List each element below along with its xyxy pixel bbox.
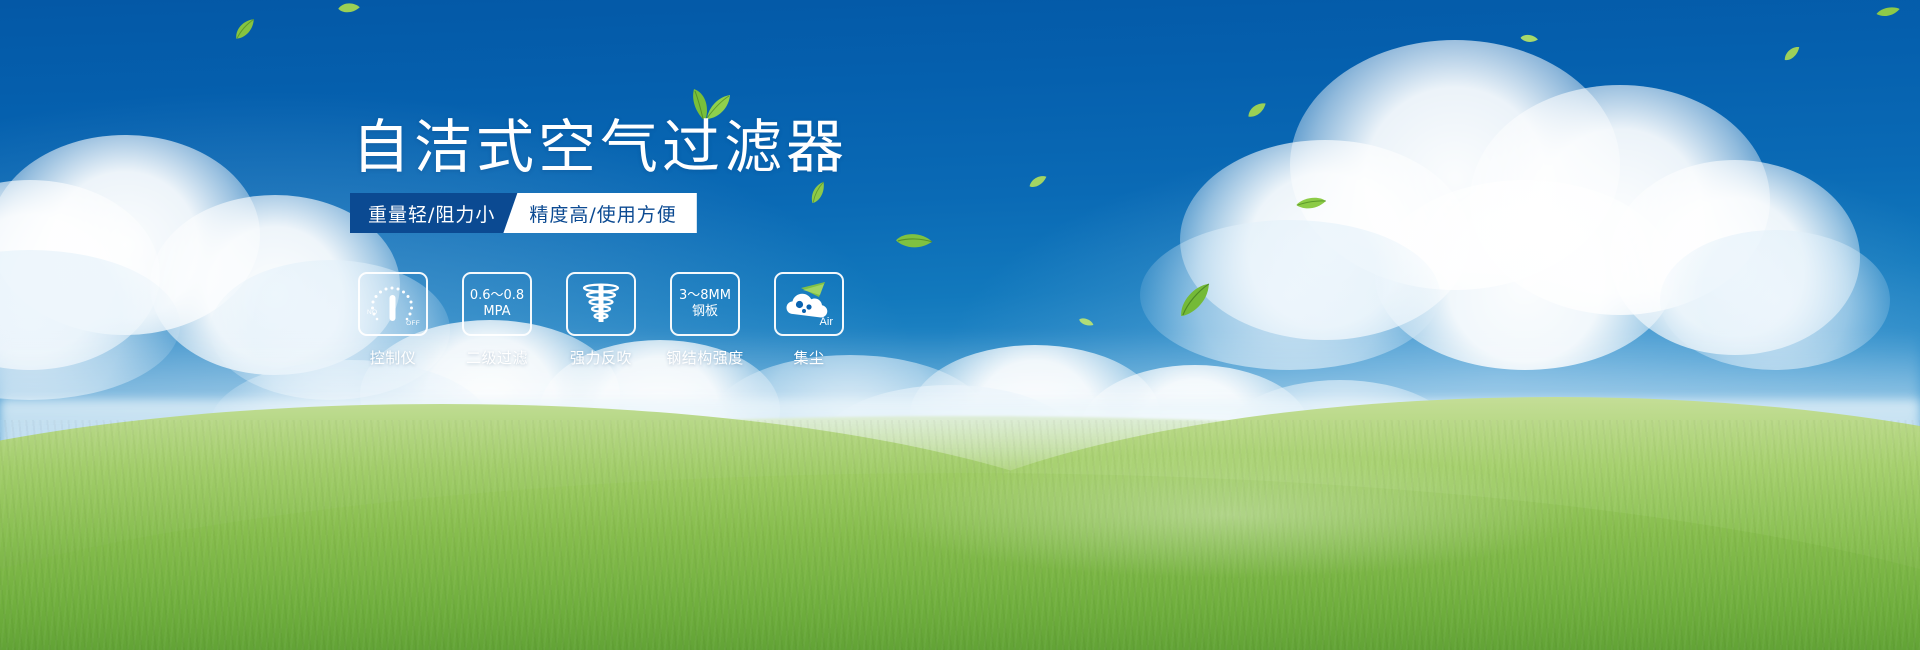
tagline-right: 精度高/使用方便 [503,193,696,233]
steel-text-icon: 3～8MM 钢板 [670,272,740,336]
pressure-value: 0.6～0.8 MPA [470,288,524,320]
feature-item[interactable]: 3～8MM 钢板 钢结构强度 [670,272,740,368]
feature-icon-row: NO OFF 控制仪 0.6～0.8 MPA 二级过滤 [358,272,844,368]
feature-item[interactable]: Air 集尘 [774,272,844,368]
feature-item[interactable]: 0.6～0.8 MPA 二级过滤 [462,272,532,368]
backblow-icon [566,272,636,336]
feature-label: 控制仪 [370,347,417,368]
gauge-off-label: OFF [406,320,420,327]
banner-content: 自洁式空气过滤器 重量轻/阻力小 精度高/使用方便 [0,0,1920,650]
gauge-no-label: NO [367,309,377,316]
page-title: 自洁式空气过滤器 [352,118,848,176]
air-label: Air [820,316,833,328]
feature-label: 强力反吹 [570,347,632,368]
steel-value: 3～8MM 钢板 [679,288,731,320]
tagline-left: 重量轻/阻力小 [350,193,517,233]
feature-label: 集尘 [793,347,824,368]
gauge-icon: NO OFF [358,272,428,336]
feature-item[interactable]: NO OFF 控制仪 [358,272,428,368]
dust-cloud-icon: Air [774,272,844,336]
feature-label: 二级过滤 [466,347,528,368]
feature-label: 钢结构强度 [666,347,744,368]
feature-item[interactable]: 强力反吹 [566,272,636,368]
tagline-bar: 重量轻/阻力小 精度高/使用方便 [350,193,697,233]
hero-banner: 自洁式空气过滤器 重量轻/阻力小 精度高/使用方便 [0,0,1920,650]
pressure-text-icon: 0.6～0.8 MPA [462,272,532,336]
